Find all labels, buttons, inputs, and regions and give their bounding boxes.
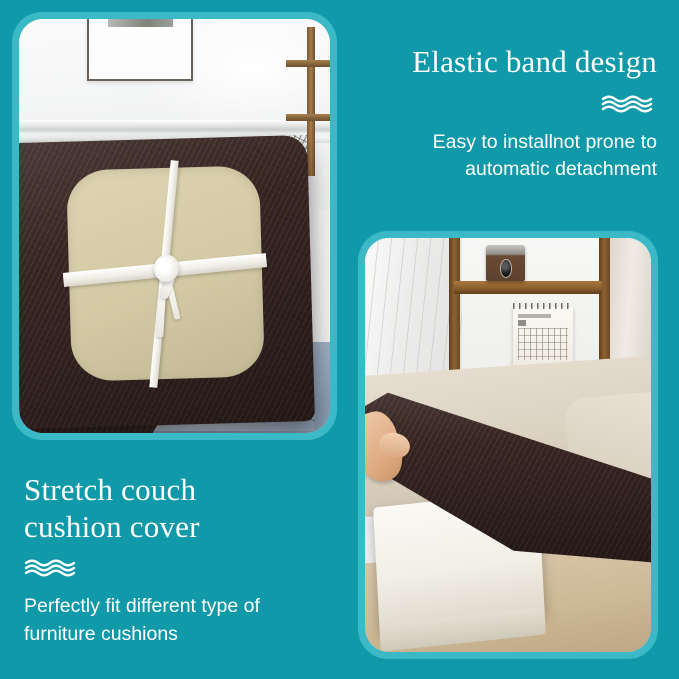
bottom-left-subtext: Perfectly fit different type of furnitur… bbox=[24, 593, 354, 648]
bow-knot bbox=[153, 254, 179, 282]
top-right-text-block: Elastic band design Easy to installnot p… bbox=[337, 44, 657, 184]
top-right-headline: Elastic band design bbox=[337, 44, 657, 81]
shelf-board-upper bbox=[454, 281, 603, 294]
calendar-header-text bbox=[518, 314, 551, 318]
calendar-spiral-binding bbox=[513, 303, 572, 309]
beige-inner-panel bbox=[66, 165, 265, 381]
wave-divider-icon bbox=[337, 93, 657, 115]
vintage-camera bbox=[486, 245, 525, 281]
shelf-post bbox=[307, 27, 315, 176]
cover-installation-photo-frame bbox=[358, 231, 658, 659]
banner-canvas: Elastic band design Easy to installnot p… bbox=[0, 0, 679, 679]
cushion-cover-underside-photo bbox=[19, 19, 330, 433]
cushion-cover-underside-photo-frame bbox=[12, 12, 337, 440]
calendar-month-number bbox=[518, 320, 526, 326]
desk-calendar bbox=[513, 307, 572, 369]
wall-art-image bbox=[108, 19, 173, 27]
wave-divider-icon bbox=[24, 557, 354, 579]
framed-wall-art bbox=[87, 19, 193, 81]
bottom-left-text-block: Stretch couch cushion cover Perfectly fi… bbox=[24, 472, 354, 649]
shelf-board-upper bbox=[286, 60, 330, 67]
cover-installation-photo bbox=[365, 238, 651, 652]
camera-lens bbox=[500, 259, 512, 278]
calendar-date-grid bbox=[518, 328, 568, 360]
top-right-subtext: Easy to installnot prone to automatic de… bbox=[337, 129, 657, 184]
shelf-board-lower bbox=[286, 114, 330, 121]
bottom-left-headline: Stretch couch cushion cover bbox=[24, 472, 354, 545]
wall-molding bbox=[19, 120, 330, 133]
